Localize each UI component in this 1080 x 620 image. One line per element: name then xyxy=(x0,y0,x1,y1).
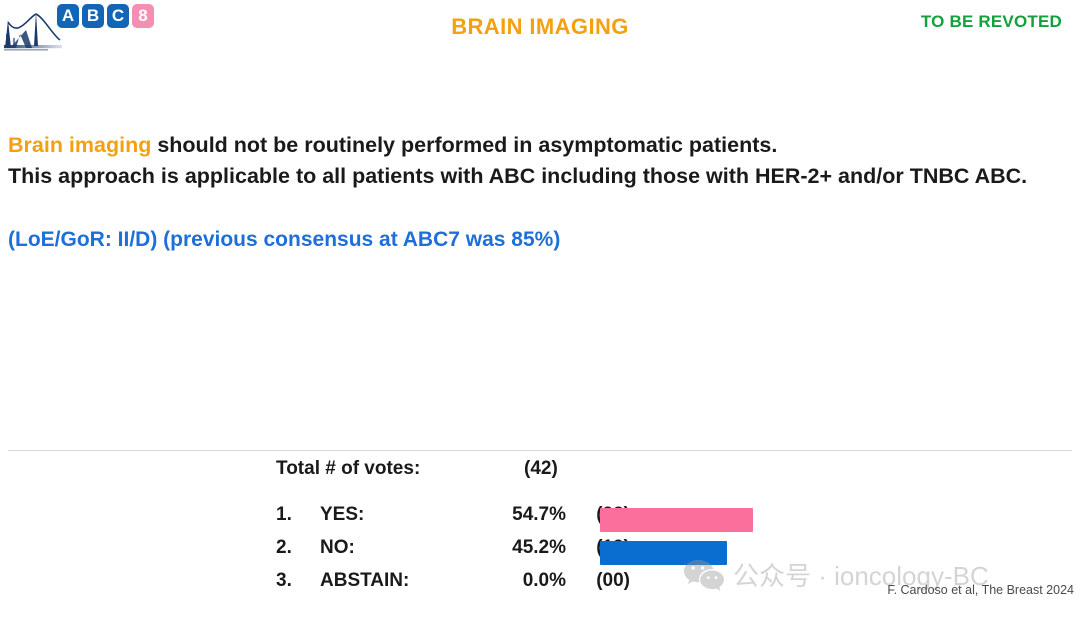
vote-bar-no xyxy=(600,541,727,565)
statement-line-1: Brain imaging should not be routinely pe… xyxy=(8,130,1073,161)
section-divider xyxy=(8,450,1072,451)
vote-percent: 0.0% xyxy=(466,570,566,592)
source-citation: F. Cardoso et al, The Breast 2024 xyxy=(887,583,1074,597)
vote-label: ABSTAIN: xyxy=(320,570,409,592)
vote-label: NO: xyxy=(320,537,355,559)
total-votes-count: (42) xyxy=(524,458,558,480)
total-votes-row: Total # of votes: (42) xyxy=(276,458,1076,504)
vote-percent: 54.7% xyxy=(466,504,566,526)
table-row: 1. YES: 54.7% (23) xyxy=(276,504,1076,537)
total-votes-label: Total # of votes: xyxy=(276,458,420,480)
vote-bar-yes xyxy=(600,508,753,532)
statement-line-1-rest: should not be routinely performed in asy… xyxy=(151,133,777,157)
vote-results-panel: Total # of votes: (42) 1. YES: 54.7% (23… xyxy=(276,458,1076,603)
statement-line-2: This approach is applicable to all patie… xyxy=(8,161,1073,192)
vote-percent: 45.2% xyxy=(466,537,566,559)
page-title: BRAIN IMAGING xyxy=(0,14,1080,40)
recommendation-statement: Brain imaging should not be routinely pe… xyxy=(8,130,1073,192)
vote-rank: 1. xyxy=(276,504,304,526)
vote-rank: 2. xyxy=(276,537,304,559)
vote-count: (00) xyxy=(578,570,630,592)
status-badge-revote: TO BE REVOTED xyxy=(921,12,1062,32)
loe-gor-line: (LoE/GoR: II/D) (previous consensus at A… xyxy=(8,228,560,252)
slide-header: A B C 8 BRAIN IMAGING TO BE REVOTED xyxy=(0,0,1080,58)
statement-highlight: Brain imaging xyxy=(8,133,151,157)
vote-label: YES: xyxy=(320,504,364,526)
table-row: 2. NO: 45.2% (19) xyxy=(276,537,1076,570)
vote-rank: 3. xyxy=(276,570,304,592)
